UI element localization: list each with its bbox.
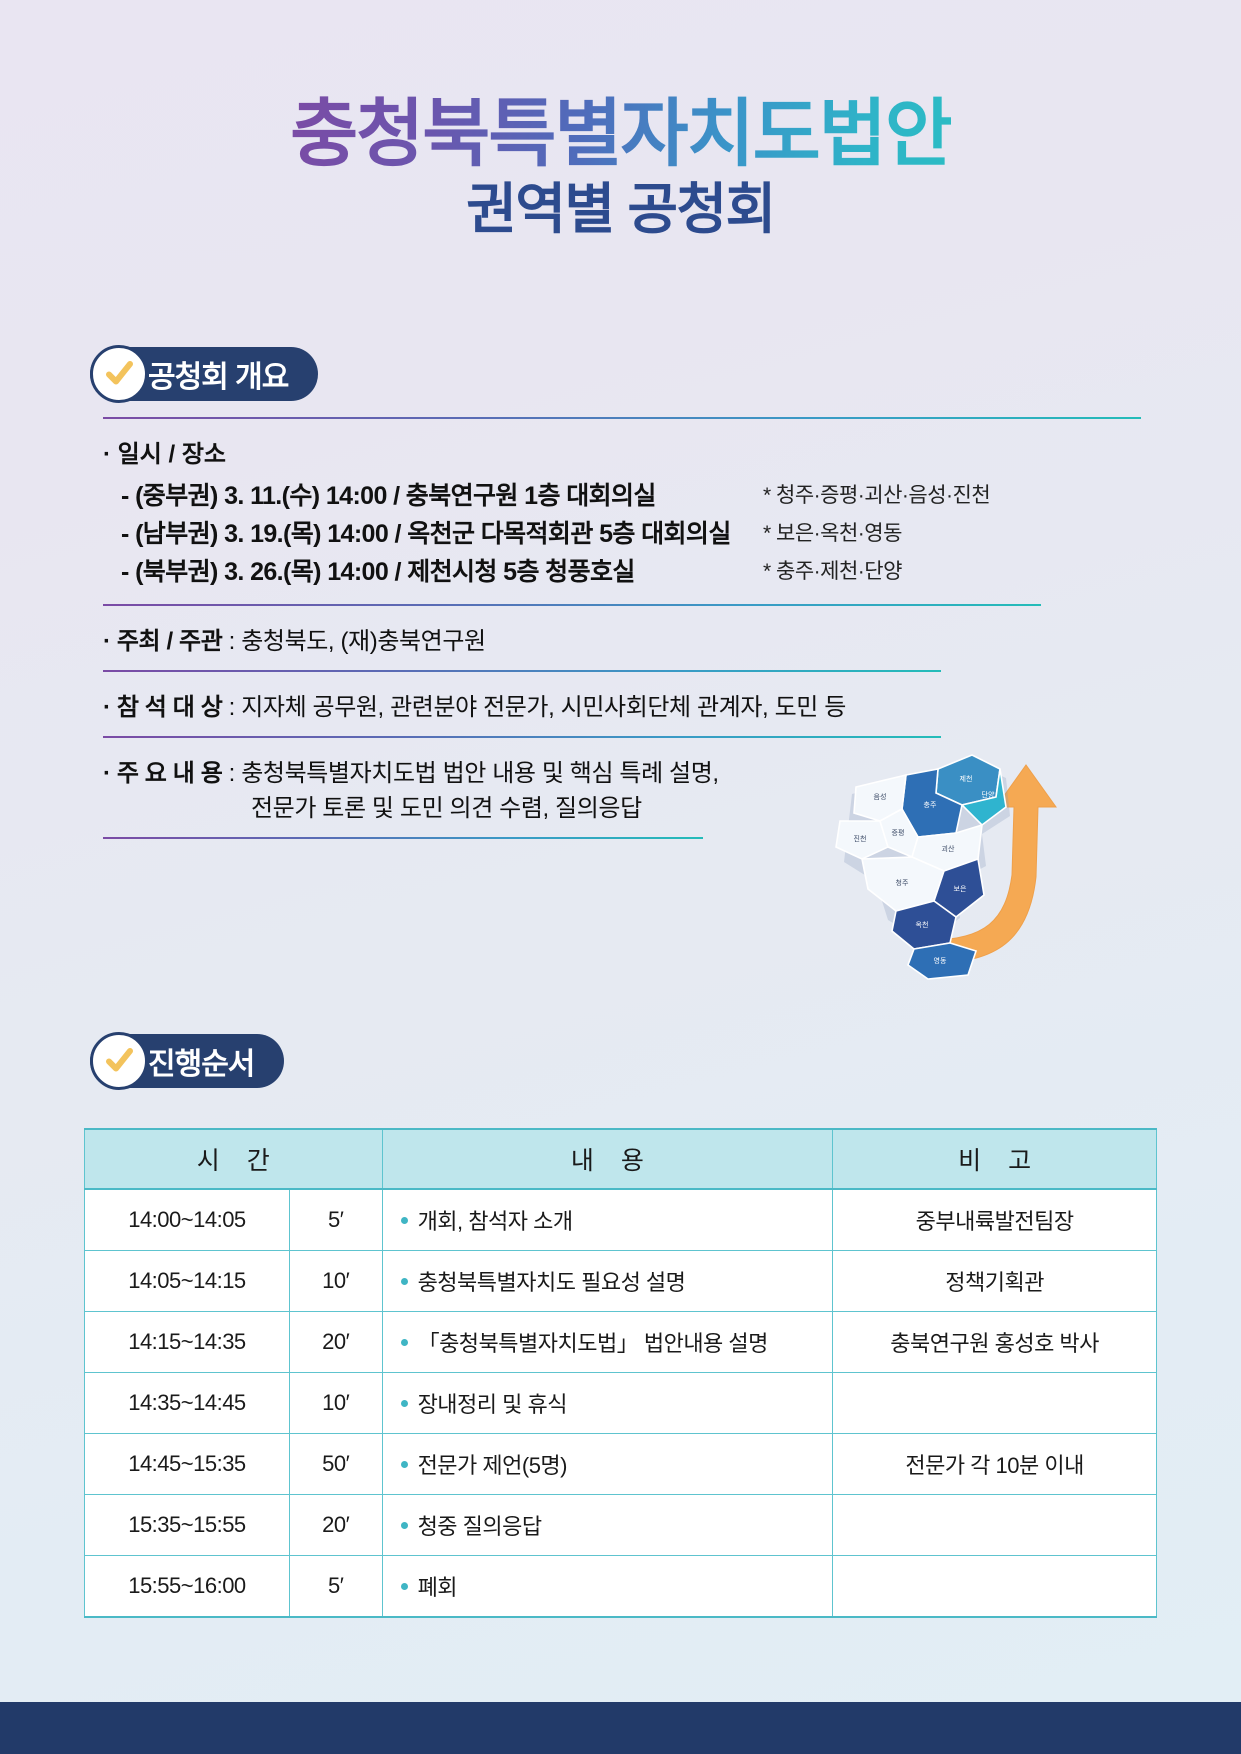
svg-text:단양: 단양: [982, 790, 995, 799]
cell-content-text: 전문가 제언(5명): [418, 1453, 567, 1478]
svg-text:진천: 진천: [854, 834, 867, 843]
cell-duration: 10′: [289, 1251, 382, 1312]
svg-text:청주: 청주: [896, 879, 909, 887]
cell-remark: [833, 1495, 1157, 1556]
attendees-line: · 참 석 대 상 : 지자체 공무원, 관련분야 전문가, 시민사회단체 관계…: [103, 687, 1141, 722]
cell-duration: 20′: [289, 1312, 382, 1373]
cell-content-text: 폐회: [418, 1575, 457, 1600]
table-row: 14:15~14:35 20′ 「충청북특별자치도법」 법안내용 설명 충북연구…: [85, 1312, 1157, 1373]
column-header-content: 내 용: [382, 1129, 833, 1189]
schedule-note: * 보은·옥천·영동: [763, 517, 902, 547]
program-table-head: 시 간 내 용 비 고: [85, 1129, 1157, 1189]
schedule-heading: · 일시 / 장소: [103, 434, 1141, 469]
overview-schedule-block: · 일시 / 장소 - (중부권) 3. 11.(수) 14:00 / 충북연구…: [103, 419, 1141, 604]
table-header-row: 시 간 내 용 비 고: [85, 1129, 1157, 1189]
page-title: 충청북특별자치도법안: [290, 95, 951, 173]
cell-remark: [833, 1556, 1157, 1618]
table-row: 14:45~15:35 50′ 전문가 제언(5명) 전문가 각 10분 이내: [85, 1434, 1157, 1495]
cell-remark: 중부내륙발전팀장: [833, 1189, 1157, 1251]
bullet-icon: [401, 1461, 408, 1468]
schedule-row: - (남부권) 3. 19.(목) 14:00 / 옥천군 다목적회관 5층 대…: [103, 514, 1141, 552]
svg-text:보은: 보은: [954, 885, 967, 893]
maincontent-sep: :: [222, 760, 241, 787]
bullet-icon: [401, 1583, 408, 1590]
cell-content-text: 「충청북특별자치도법」 법안내용 설명: [418, 1331, 768, 1356]
cell-remark: 충북연구원 홍성호 박사: [833, 1312, 1157, 1373]
table-row: 15:35~15:55 20′ 청중 질의응답: [85, 1495, 1157, 1556]
cell-content-text: 장내정리 및 휴식: [418, 1392, 567, 1417]
host-key: · 주최 / 주관: [103, 628, 222, 655]
host-sep: :: [222, 628, 241, 655]
schedule-note: * 충주·제천·단양: [763, 555, 902, 585]
cell-content: 전문가 제언(5명): [382, 1434, 833, 1495]
maincontent-key: · 주 요 내 용: [103, 760, 222, 787]
schedule-row: - (북부권) 3. 26.(목) 14:00 / 제천시청 5층 청풍호실 *…: [103, 552, 1141, 590]
maincontent-value-1: 충청북특별자치도법 법안 내용 및 핵심 특례 설명,: [241, 760, 718, 787]
cell-content-text: 개회, 참석자 소개: [418, 1209, 573, 1234]
cell-remark: 전문가 각 10분 이내: [833, 1434, 1157, 1495]
poster-root: 충청북특별자치도법안 권역별 공청회 공청회 개요 · 일시 / 장소 - (중…: [0, 0, 1241, 1754]
cell-content-text: 청중 질의응답: [418, 1514, 542, 1539]
column-header-remark: 비 고: [833, 1129, 1157, 1189]
host-value: 충청북도, (재)충북연구원: [241, 628, 486, 655]
cell-remark: 정책기획관: [833, 1251, 1157, 1312]
overview-host-block: · 주최 / 주관 : 충청북도, (재)충북연구원: [103, 606, 1141, 670]
chungbuk-map-illustration: 제천 단양 충주 음성 진천 증평 괴산 청주 보은 옥천 영동: [810, 735, 1110, 985]
cell-duration: 50′: [289, 1434, 382, 1495]
schedule-label: - (북부권) 3. 26.(목) 14:00 / 제천시청 5층 청풍호실: [121, 552, 635, 588]
check-circle-icon: [90, 1032, 148, 1090]
svg-text:괴산: 괴산: [942, 844, 955, 853]
svg-text:옥천: 옥천: [916, 920, 929, 929]
cell-content: 충청북특별자치도 필요성 설명: [382, 1251, 833, 1312]
cell-duration: 20′: [289, 1495, 382, 1556]
cell-content-text: 충청북특별자치도 필요성 설명: [418, 1270, 686, 1295]
bullet-icon: [401, 1339, 408, 1346]
cell-time: 14:00~14:05: [85, 1189, 290, 1251]
cell-content: 개회, 참석자 소개: [382, 1189, 833, 1251]
cell-duration: 5′: [289, 1556, 382, 1618]
schedule-row: - (중부권) 3. 11.(수) 14:00 / 충북연구원 1층 대회의실 …: [103, 476, 1141, 514]
cell-time: 14:15~14:35: [85, 1312, 290, 1373]
attendees-key: · 참 석 대 상: [103, 694, 222, 721]
schedule-label: - (중부권) 3. 11.(수) 14:00 / 충북연구원 1층 대회의실: [121, 476, 656, 512]
program-table: 시 간 내 용 비 고 14:00~14:05 5′ 개회, 참석자 소개 중부…: [84, 1128, 1157, 1618]
cell-time: 14:45~15:35: [85, 1434, 290, 1495]
cell-remark: [833, 1373, 1157, 1434]
footer-band: [0, 1702, 1241, 1754]
svg-text:충주: 충주: [924, 800, 937, 809]
column-header-time: 시 간: [85, 1129, 383, 1189]
attendees-value: 지자체 공무원, 관련분야 전문가, 시민사회단체 관계자, 도민 등: [241, 694, 846, 721]
table-row: 15:55~16:00 5′ 폐회: [85, 1556, 1157, 1618]
bullet-icon: [401, 1278, 408, 1285]
cell-content: 청중 질의응답: [382, 1495, 833, 1556]
svg-text:제천: 제천: [960, 774, 973, 783]
table-row: 14:35~14:45 10′ 장내정리 및 휴식: [85, 1373, 1157, 1434]
schedule-label: - (남부권) 3. 19.(목) 14:00 / 옥천군 다목적회관 5층 대…: [121, 514, 731, 550]
bullet-icon: [401, 1522, 408, 1529]
bullet-icon: [401, 1400, 408, 1407]
program-table-body: 14:00~14:05 5′ 개회, 참석자 소개 중부내륙발전팀장 14:05…: [85, 1189, 1157, 1617]
attendees-sep: :: [222, 694, 241, 721]
cell-duration: 10′: [289, 1373, 382, 1434]
cell-time: 15:35~15:55: [85, 1495, 290, 1556]
svg-text:음성: 음성: [874, 792, 887, 801]
cell-content: 「충청북특별자치도법」 법안내용 설명: [382, 1312, 833, 1373]
page-subtitle: 권역별 공청회: [0, 179, 1241, 240]
bullet-icon: [401, 1217, 408, 1224]
overview-attendees-block: · 참 석 대 상 : 지자체 공무원, 관련분야 전문가, 시민사회단체 관계…: [103, 672, 1141, 736]
table-row: 14:00~14:05 5′ 개회, 참석자 소개 중부내륙발전팀장: [85, 1189, 1157, 1251]
schedule-note: * 청주·증평·괴산·음성·진천: [763, 479, 990, 509]
cell-content: 장내정리 및 휴식: [382, 1373, 833, 1434]
svg-text:영동: 영동: [934, 956, 947, 965]
cell-time: 14:35~14:45: [85, 1373, 290, 1434]
section-badge-overview: 공청회 개요: [90, 347, 318, 401]
cell-duration: 5′: [289, 1189, 382, 1251]
host-line: · 주최 / 주관 : 충청북도, (재)충북연구원: [103, 621, 1141, 656]
section-badge-program: 진행순서: [90, 1034, 284, 1088]
cell-time: 15:55~16:00: [85, 1556, 290, 1618]
cell-time: 14:05~14:15: [85, 1251, 290, 1312]
cell-content: 폐회: [382, 1556, 833, 1618]
poster-title-block: 충청북특별자치도법안 권역별 공청회: [0, 95, 1241, 240]
check-circle-icon: [90, 345, 148, 403]
table-row: 14:05~14:15 10′ 충청북특별자치도 필요성 설명 정책기획관: [85, 1251, 1157, 1312]
svg-text:증평: 증평: [892, 828, 905, 837]
divider: [103, 837, 703, 839]
